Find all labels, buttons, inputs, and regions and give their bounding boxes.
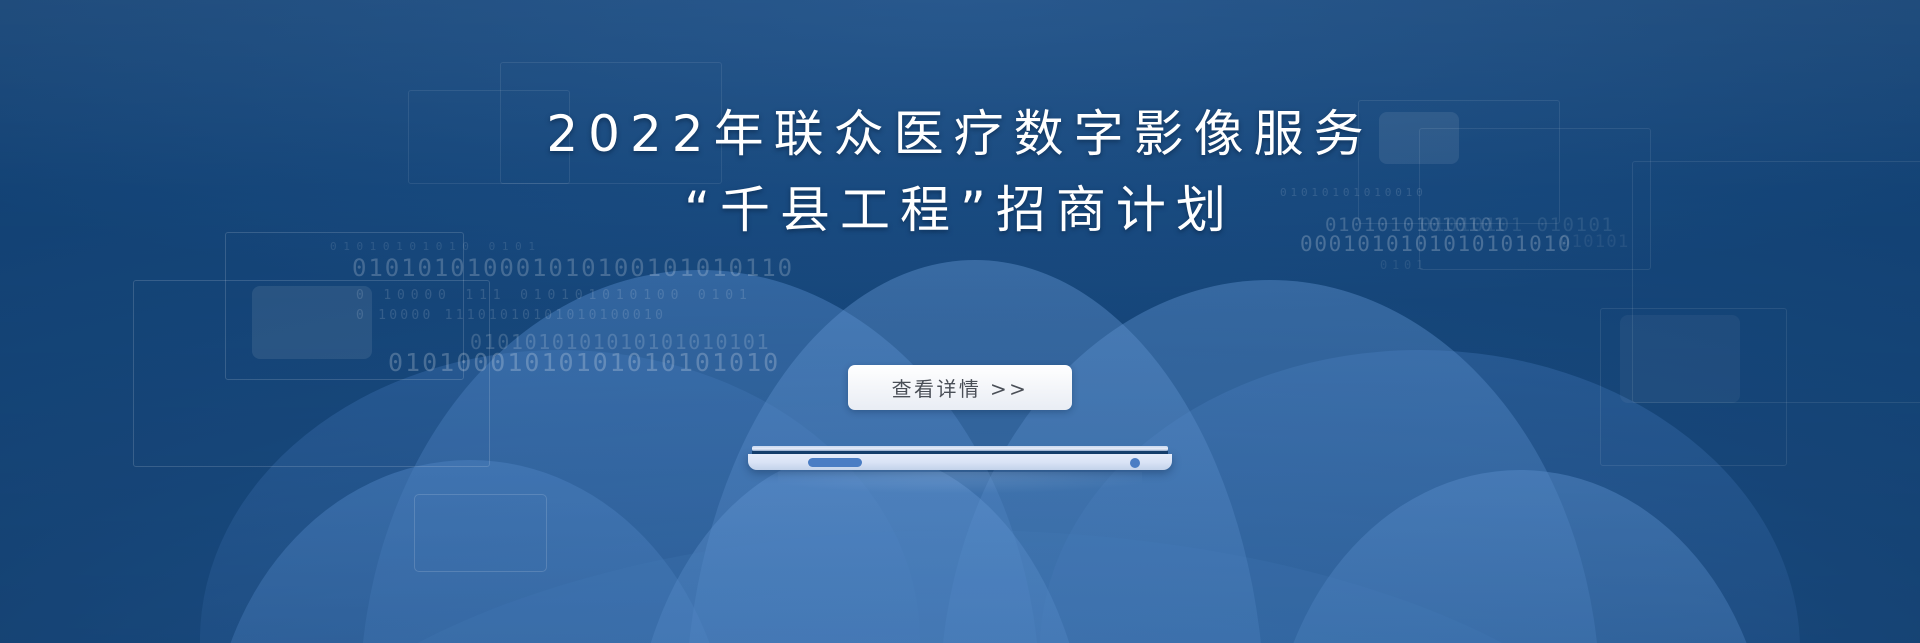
binary-text-right-1: 01010101010101 (1325, 214, 1506, 236)
decor-rect-upper-right-2 (1419, 128, 1651, 270)
decor-rect-upper-right (1358, 100, 1560, 224)
binary-text-left-3: 0 10000 11101010101010100010 (356, 308, 666, 323)
cloud-layer-front (240, 530, 1680, 643)
binary-text-left-1: 010101010001010100101010110 (352, 254, 794, 282)
decor-rect-left-outline (133, 280, 490, 467)
decor-rect-right-outline (1632, 161, 1920, 403)
binary-text-right-5: 010101 (1560, 232, 1630, 252)
binary-text-right-3: 01010101010010 (1280, 186, 1427, 199)
binary-text-right-2: 0001010101010101010 (1300, 232, 1572, 256)
binary-text-left-6: 01010101010 0101 (330, 240, 542, 253)
cloud-graphic (0, 0, 1920, 643)
decor-rect-right-outline-2 (1600, 308, 1787, 466)
decor-rect-upper-right-filled (1379, 112, 1459, 164)
headline-line-2: “千县工程”招商计划 (0, 172, 1920, 248)
laptop-trackpad-notch (808, 458, 862, 467)
decor-rect-left-outline-2 (225, 232, 464, 380)
headline-line-1: 2022年联众医疗数字影像服务 (0, 96, 1920, 172)
promo-banner: 01010101010 0101 01010101000101010010101… (0, 0, 1920, 643)
binary-text-left-5: 01010001010101010101010 (388, 348, 780, 377)
view-details-button[interactable]: 查看详情 >> (848, 365, 1072, 410)
binary-text-right-6: 0101 (1380, 258, 1428, 272)
cloud-svg (0, 0, 1920, 643)
background-sheen (0, 0, 1920, 643)
binary-text-right-4: 01010101 010101 (1420, 214, 1614, 236)
decor-rect-bottom-left (414, 494, 547, 572)
decor-rect-right-filled (1620, 315, 1740, 403)
laptop-device-graphic (748, 446, 1172, 476)
decor-rect-upper-left-2 (500, 62, 722, 184)
binary-text-left-2: 0 10000 111 010101010100 0101 (356, 288, 753, 303)
decor-rect-upper-left (408, 90, 570, 184)
banner-headline: 2022年联众医疗数字影像服务 “千县工程”招商计划 (0, 96, 1920, 248)
laptop-reflection-glow (778, 472, 1142, 494)
decor-rect-left-filled (252, 286, 372, 359)
binary-text-left-4: 0101010101010101010101 (470, 330, 770, 354)
laptop-indicator-dot (1130, 458, 1140, 468)
